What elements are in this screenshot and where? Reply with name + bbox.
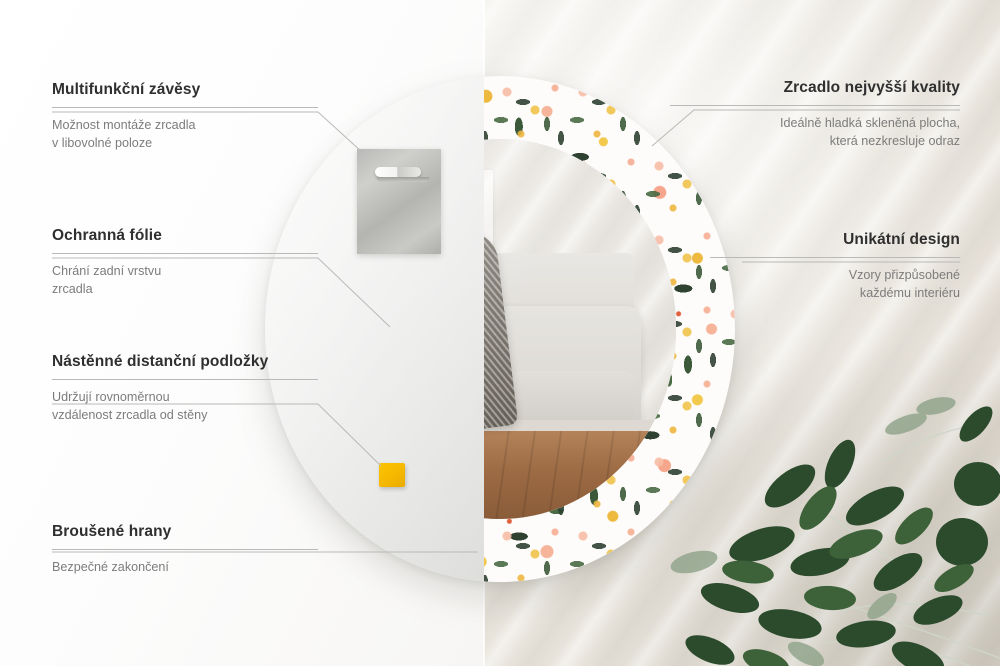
callout-line: která nezkresluje odraz — [670, 133, 960, 151]
callout-title: Nástěnné distanční podložky — [52, 352, 318, 372]
callout-line: Chrání zadní vrstvu — [52, 263, 318, 281]
hanger-slot-icon — [375, 167, 421, 177]
callout-rule — [52, 107, 318, 108]
callout-line: Možnost montáže zrcadla — [52, 117, 318, 135]
callout-line: Vzory přizpůsobené — [710, 267, 960, 285]
callout-line: v libovolné poloze — [52, 135, 318, 153]
callout-rule — [52, 253, 318, 254]
mirror-hanger-plate — [357, 149, 441, 254]
callout-line: Ideálně hladká skleněná plocha, — [670, 115, 960, 133]
callout-title: Broušené hrany — [52, 522, 318, 542]
callout-title: Multifunkční závěsy — [52, 80, 318, 100]
callout-rule — [52, 549, 318, 550]
callout-title: Unikátní design — [710, 230, 960, 250]
callout-brousene-hrany: Broušené hrany Bezpečné zakončení — [52, 522, 318, 577]
callout-rule — [710, 257, 960, 258]
callout-line: zrcadla — [52, 281, 318, 299]
wall-spacer-pad — [379, 463, 405, 487]
infographic-canvas: Multifunkční závěsy Možnost montáže zrca… — [0, 0, 1000, 666]
callout-title: Ochranná fólie — [52, 226, 318, 246]
callout-ochranna-folie: Ochranná fólie Chrání zadní vrstvu zrcad… — [52, 226, 318, 299]
foliage-decoration — [670, 366, 1000, 666]
callout-multifunkcni-zavesy: Multifunkční závěsy Možnost montáže zrca… — [52, 80, 318, 153]
callout-line: každému interiéru — [710, 285, 960, 303]
callout-title: Zrcadlo nejvyšší kvality — [670, 78, 960, 98]
callout-unikatni-design: Unikátní design Vzory přizpůsobené každé… — [710, 230, 960, 303]
callout-nastenne-distancni-podlozky: Nástěnné distanční podložky Udržují rovn… — [52, 352, 318, 425]
callout-zrcadlo-nejvyssi-kvality: Zrcadlo nejvyšší kvality Ideálně hladká … — [670, 78, 960, 151]
callout-rule — [670, 105, 960, 106]
callout-line: Bezpečné zakončení — [52, 559, 318, 577]
callout-line: vzdálenost zrcadla od stěny — [52, 407, 318, 425]
callout-line: Udržují rovnoměrnou — [52, 389, 318, 407]
callout-rule — [52, 379, 318, 380]
